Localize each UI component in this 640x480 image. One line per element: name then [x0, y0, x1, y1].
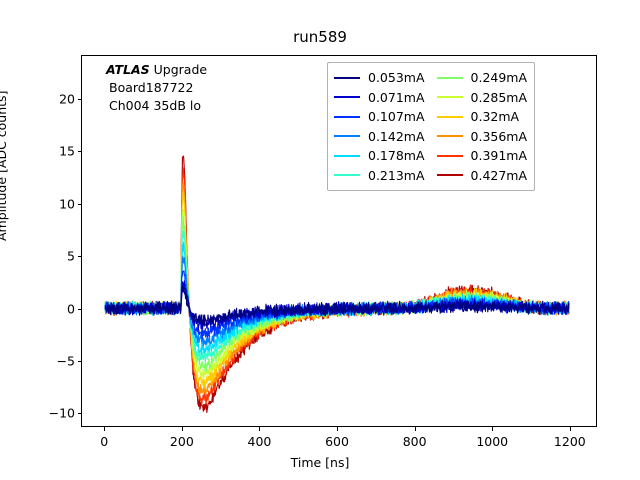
annotation-line-channel: Ch004 35dB lo	[106, 97, 207, 115]
y-tick-label: 10	[23, 196, 75, 211]
legend-color-swatch	[437, 96, 463, 98]
legend-entry[interactable]: 0.285mA	[437, 88, 528, 108]
y-tick-label: −5	[23, 353, 75, 368]
x-tick-mark	[182, 427, 183, 431]
waveform-trace	[105, 183, 569, 395]
legend-label: 0.053mA	[368, 70, 425, 85]
legend-entry[interactable]: 0.427mA	[437, 166, 528, 186]
x-tick-mark	[259, 427, 260, 431]
waveform-trace	[105, 192, 569, 388]
waveform-trace	[105, 216, 569, 371]
waveform-trace	[105, 168, 569, 405]
x-tick-label: 400	[229, 434, 289, 449]
legend-color-swatch	[437, 135, 463, 137]
x-tick-mark	[570, 427, 571, 431]
legend-label: 0.213mA	[368, 168, 425, 183]
x-tick-mark	[415, 427, 416, 431]
legend-color-swatch	[334, 174, 360, 176]
x-tick-mark	[337, 427, 338, 431]
x-tick-label: 1000	[462, 434, 522, 449]
x-tick-mark	[104, 427, 105, 431]
legend-entry[interactable]: 0.32mA	[437, 107, 528, 127]
legend-label: 0.427mA	[471, 168, 528, 183]
x-tick-label: 800	[385, 434, 445, 449]
legend-color-swatch	[334, 135, 360, 137]
y-tick-label: 5	[23, 249, 75, 264]
atlas-label: ATLAS	[106, 62, 150, 77]
legend-entry[interactable]: 0.071mA	[334, 88, 425, 108]
legend-color-swatch	[437, 174, 463, 176]
annotation-line-atlas: ATLAS Upgrade	[106, 61, 207, 79]
legend-column-left: 0.053mA0.071mA0.107mA0.142mA0.178mA0.213…	[334, 68, 425, 185]
matplotlib-figure: run589 −10−50510152002004006008001000120…	[0, 0, 640, 480]
x-tick-mark	[492, 427, 493, 431]
legend-color-swatch	[437, 155, 463, 157]
waveform-trace	[105, 286, 569, 326]
legend-column-right: 0.249mA0.285mA0.32mA0.356mA0.391mA0.427m…	[437, 68, 528, 185]
legend-label: 0.071mA	[368, 90, 425, 105]
legend-label: 0.107mA	[368, 109, 425, 124]
legend-entry[interactable]: 0.249mA	[437, 68, 528, 88]
legend-entry[interactable]: 0.107mA	[334, 107, 425, 127]
legend-color-swatch	[334, 116, 360, 118]
x-tick-label: 200	[152, 434, 212, 449]
y-tick-label: 0	[23, 301, 75, 316]
legend-label: 0.249mA	[471, 70, 528, 85]
upgrade-label: Upgrade	[154, 62, 207, 77]
legend: 0.053mA0.071mA0.107mA0.142mA0.178mA0.213…	[327, 62, 535, 191]
y-tick-label: 20	[23, 92, 75, 107]
legend-color-swatch	[437, 116, 463, 118]
legend-entry[interactable]: 0.213mA	[334, 166, 425, 186]
legend-entry[interactable]: 0.356mA	[437, 127, 528, 147]
x-tick-label: 600	[307, 434, 367, 449]
waveform-trace	[105, 156, 569, 412]
legend-color-swatch	[334, 155, 360, 157]
legend-entry[interactable]: 0.053mA	[334, 68, 425, 88]
legend-color-swatch	[334, 77, 360, 79]
annotation-line-board: Board187722	[106, 79, 207, 97]
legend-entry[interactable]: 0.391mA	[437, 146, 528, 166]
legend-label: 0.178mA	[368, 148, 425, 163]
legend-label: 0.391mA	[471, 148, 528, 163]
y-tick-label: −10	[23, 406, 75, 421]
legend-label: 0.32mA	[471, 109, 520, 124]
x-axis-label: Time [ns]	[0, 455, 640, 470]
legend-label: 0.285mA	[471, 90, 528, 105]
legend-color-swatch	[437, 77, 463, 79]
legend-entry[interactable]: 0.178mA	[334, 146, 425, 166]
legend-label: 0.356mA	[471, 129, 528, 144]
legend-label: 0.142mA	[368, 129, 425, 144]
x-tick-label: 0	[74, 434, 134, 449]
page-title: run589	[0, 28, 640, 46]
waveform-trace	[105, 230, 569, 363]
legend-entry[interactable]: 0.142mA	[334, 127, 425, 147]
y-tick-label: 15	[23, 144, 75, 159]
legend-color-swatch	[334, 96, 360, 98]
annotation-text: ATLAS Upgrade Board187722 Ch004 35dB lo	[106, 61, 207, 114]
x-tick-label: 1200	[540, 434, 600, 449]
y-axis-label: Amplitude [ADC counts]	[0, 91, 9, 241]
